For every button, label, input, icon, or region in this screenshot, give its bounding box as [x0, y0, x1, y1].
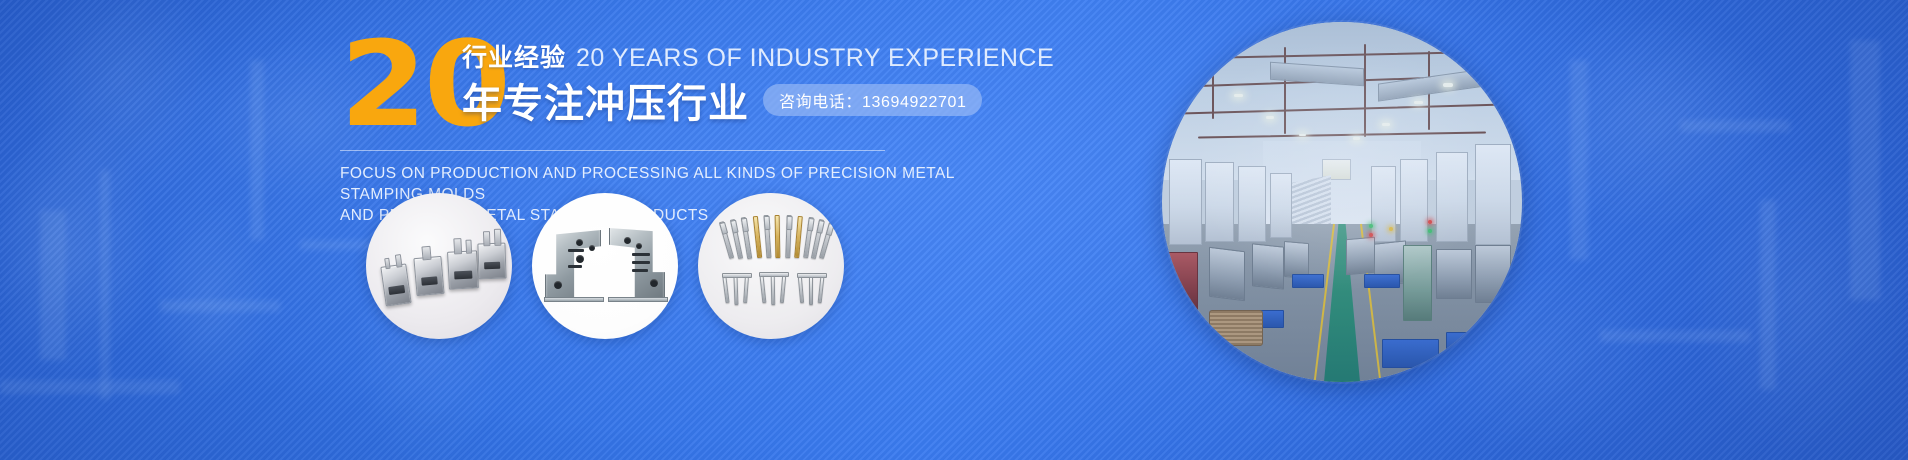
headline-text-group: 行业经验 20 YEARS OF INDUSTRY EXPERIENCE 年专注…	[462, 38, 1042, 124]
factory-scene	[1162, 22, 1522, 382]
headline-line-top: 行业经验 20 YEARS OF INDUSTRY EXPERIENCE	[462, 38, 1042, 72]
promo-banner: 20 行业经验 20 YEARS OF INDUSTRY EXPERIENCE …	[0, 0, 1908, 460]
usb-connectors-icon	[366, 193, 512, 339]
stamping-die-icon	[532, 193, 678, 339]
phone-badge[interactable]: 咨询电话：13694922701	[763, 84, 982, 116]
headline-row: 20 行业经验 20 YEARS OF INDUSTRY EXPERIENCE …	[340, 38, 1040, 140]
experience-label-cn: 行业经验	[462, 38, 566, 74]
experience-label-en: 20 YEARS OF INDUSTRY EXPERIENCE	[576, 44, 1054, 73]
product-circle-list	[366, 193, 844, 339]
product-terminal-pins[interactable]	[698, 193, 844, 339]
terminal-pins-icon	[698, 193, 844, 339]
product-stamping-die[interactable]	[532, 193, 678, 339]
product-usb-connectors[interactable]	[366, 193, 512, 339]
factory-workshop-photo[interactable]	[1162, 22, 1522, 382]
focus-label-cn: 年专注冲压行业	[462, 71, 749, 129]
headline-line-mid: 年专注冲压行业 咨询电话：13694922701	[462, 76, 1042, 124]
